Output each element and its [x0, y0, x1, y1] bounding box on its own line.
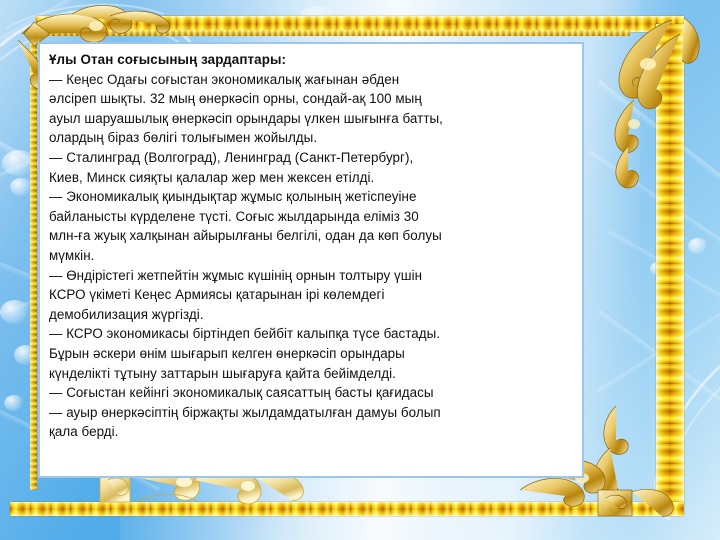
slide-canvas: Ұлы Отан соғысының зардаптары: — Кеңес О… — [0, 0, 720, 540]
body-line: әлсіреп шықты. 32 мың өнеркәсіп орны, со… — [49, 89, 574, 109]
body-line: — ауыр өнеркәсіптің біржақты жылдамдатыл… — [49, 403, 574, 423]
body-line: — Экономикалық қиындықтар жұмыс қолының … — [49, 187, 574, 207]
gold-rope-inner-top — [30, 30, 630, 36]
body-line: демобилизация жүргізді. — [49, 305, 574, 325]
content-text-card: Ұлы Отан соғысының зардаптары: — Кеңес О… — [38, 42, 584, 478]
body-line: Бұрын әскери өнім шығарып келген өнеркәс… — [49, 344, 574, 364]
body-line: байланысты күрделене түсті. Соғыс жылдар… — [49, 207, 574, 227]
body-line: КСРО үкіметі Кеңес Армиясы қатарынан ірі… — [49, 285, 574, 305]
body-line: — Сталинград (Волгоград), Ленинград (Сан… — [49, 148, 574, 168]
body-line: күнделікті тұтыну заттарын шығаруға қайт… — [49, 364, 574, 384]
body-line: мүмкін. — [49, 246, 574, 266]
gold-band-right — [656, 24, 684, 504]
body-line: Киев, Минск сияқты қалалар жер мен жексе… — [49, 168, 574, 188]
body-line: олардың біраз бөлігі толығымен жойылды. — [49, 128, 574, 148]
body-line: ауыл шаруашылық өнеркәсіп орындары үлкен… — [49, 109, 574, 129]
body-line: — Өндірістегі жетпейтін жұмыс күшінің ор… — [49, 266, 574, 286]
card-heading: Ұлы Отан соғысының зардаптары: — [49, 50, 574, 70]
body-line: — Кеңес Одағы соғыстан экономикалық жағы… — [49, 70, 574, 90]
gold-band-bottom — [10, 502, 684, 516]
body-line: млн-ға жуық халқынан айырылғаны белгілі,… — [49, 226, 574, 246]
body-line: — Соғыстан кейінгі экономикалық саясатты… — [49, 383, 574, 403]
body-line: — КСРО экономикасы біртіндеп бейбіт калы… — [49, 324, 574, 344]
gold-rope-left — [30, 30, 37, 490]
body-line: қала берді. — [49, 422, 574, 442]
